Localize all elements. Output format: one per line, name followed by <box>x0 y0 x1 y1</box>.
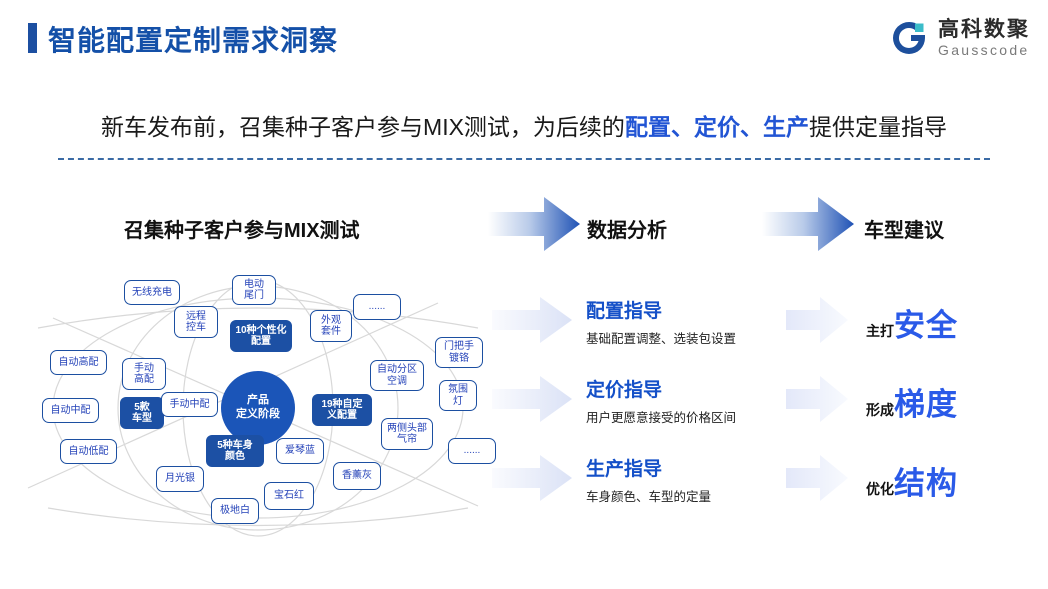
insight-subtitle: 基础配置调整、选装包设置 <box>586 328 736 347</box>
mindmap-node: 10种个性化 配置 <box>230 320 292 352</box>
insight-row-configuration: 配置指导 基础配置调整、选装包设置 <box>586 302 736 347</box>
insight-row-production: 生产指导 车身颜色、车型的定量 <box>586 460 711 505</box>
mindmap-node: 爱琴蓝 <box>276 438 324 464</box>
mindmap-node: 自动中配 <box>42 398 99 423</box>
page-header: 智能配置定制需求洞察 高科数聚 Gausscode <box>0 0 1048 78</box>
logo-english-name: Gausscode <box>938 43 1030 57</box>
insight-subtitle: 用户更愿意接受的价格区间 <box>586 407 736 426</box>
mindmap-node: 两侧头部 气帘 <box>381 418 433 450</box>
mindmap-node: 月光银 <box>156 466 204 492</box>
mindmap-diagram: 产品 定义阶段 无线充电 电动 尾门 ...... 远程 控车 10种个性化 配… <box>8 258 508 543</box>
conclusion-word: 结构 <box>894 458 958 503</box>
conclusion-structure: 优化 结构 <box>866 458 958 503</box>
mindmap-node: 门把手 镀铬 <box>435 337 483 368</box>
title-marker <box>28 23 37 53</box>
mindmap-node: 自动高配 <box>50 350 107 375</box>
mindmap-node: 极地白 <box>211 498 259 524</box>
column-header-data-analysis: 数据分析 <box>587 214 667 243</box>
subtitle-highlight: 配置、定价、生产 <box>625 114 809 140</box>
mindmap-node: 19种自定 义配置 <box>312 394 372 426</box>
column-header-mix-test: 召集种子客户参与MIX测试 <box>124 214 360 243</box>
mindmap-node: 手动中配 <box>161 392 218 417</box>
conclusion-prefix: 主打 <box>866 321 894 341</box>
subtitle: 新车发布前，召集种子客户参与MIX测试，为后续的配置、定价、生产提供定量指导 <box>0 108 1048 142</box>
logo-chinese-name: 高科数聚 <box>938 19 1030 40</box>
subtitle-part2: 提供定量指导 <box>809 114 947 140</box>
insight-title: 定价指导 <box>586 381 736 402</box>
conclusion-prefix: 形成 <box>866 400 894 420</box>
mindmap-node: 无线充电 <box>124 280 180 305</box>
row-arrow-right-1-icon <box>786 297 848 348</box>
insight-subtitle: 车身颜色、车型的定量 <box>586 486 711 505</box>
gausscode-logo-icon <box>889 18 929 58</box>
column-header-model-advice: 车型建议 <box>864 214 944 243</box>
row-arrow-right-2-icon <box>786 376 848 427</box>
conclusion-word: 安全 <box>894 300 958 345</box>
insight-title: 生产指导 <box>586 460 711 481</box>
conclusion-safety: 主打 安全 <box>866 300 958 345</box>
insight-row-pricing: 定价指导 用户更愿意接受的价格区间 <box>586 381 736 426</box>
header-arrow-1-icon <box>488 197 580 256</box>
mindmap-node: 外观 套件 <box>310 310 352 342</box>
conclusion-word: 梯度 <box>894 379 958 424</box>
insight-title: 配置指导 <box>586 302 736 323</box>
mindmap-node: 电动 尾门 <box>232 275 276 305</box>
mindmap-node: ...... <box>448 438 496 464</box>
mindmap-node: 自动低配 <box>60 439 117 464</box>
row-arrow-right-3-icon <box>786 455 848 506</box>
subtitle-part1: 新车发布前，召集种子客户参与MIX测试，为后续的 <box>101 114 625 140</box>
header-arrow-2-icon <box>762 197 854 256</box>
page-title: 智能配置定制需求洞察 <box>48 19 338 59</box>
mindmap-node: 5种车身 颜色 <box>206 435 264 467</box>
mindmap-node: ...... <box>353 294 401 320</box>
mindmap-center-node: 产品 定义阶段 <box>221 371 295 445</box>
mindmap-node: 氛围 灯 <box>439 380 477 411</box>
mindmap-node: 香薰灰 <box>333 462 381 490</box>
mindmap-node: 宝石红 <box>264 482 314 510</box>
mindmap-node: 5款 车型 <box>120 397 164 429</box>
brand-logo: 高科数聚 Gausscode <box>889 18 1030 58</box>
conclusion-prefix: 优化 <box>866 479 894 499</box>
mindmap-node: 手动 高配 <box>122 358 166 390</box>
mindmap-node: 远程 控车 <box>174 306 218 338</box>
mindmap-node: 自动分区 空调 <box>370 360 424 391</box>
conclusion-gradient: 形成 梯度 <box>866 379 958 424</box>
section-divider <box>58 158 990 160</box>
